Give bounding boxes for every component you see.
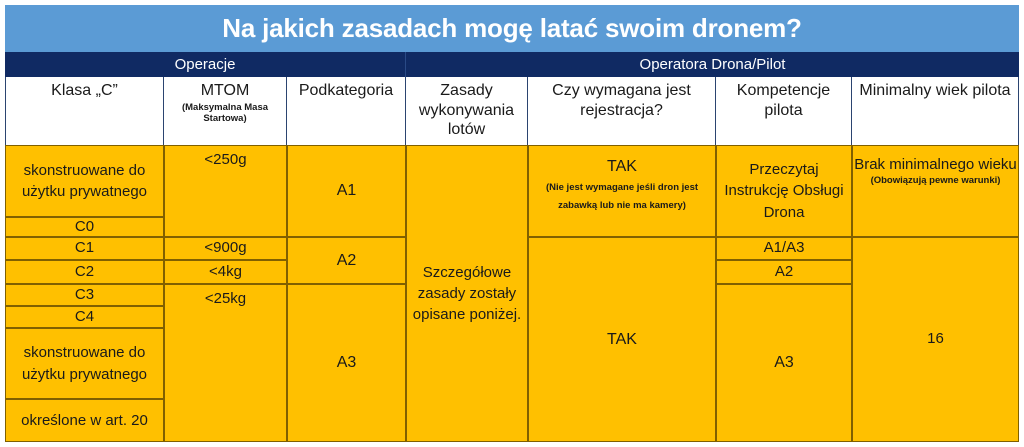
table-cell-wiek-brak-minimalnego: Brak minimalnego wieku (Obowiązują pewne… <box>852 145 1019 237</box>
column-header-wiek-label: Minimalny wiek pilota <box>859 81 1010 101</box>
table-cell-podkategoria-a3: A3 <box>287 284 406 442</box>
column-header-zasady-label: Zasady wykonywania lotów <box>406 81 527 140</box>
table-cell-zasady-opisane-ponizej: Szczegółowe zasady zostały opisane poniż… <box>406 145 528 442</box>
group-header-operatora-drona-pilot-label: Operatora Drona/Pilot <box>640 56 786 73</box>
cell-text: A2 <box>337 250 357 272</box>
column-header-rejestracja-label: Czy wymagana jest rejestracja? <box>528 81 715 120</box>
column-header-mtom-sublabel: (Maksymalna Masa Startowa) <box>164 102 286 125</box>
table-cell-mtom-900g: <900g <box>164 237 287 260</box>
cell-text: A1/A3 <box>764 238 805 258</box>
table-cell-mtom-4kg: <4kg <box>164 260 287 284</box>
column-header-mtom-label: MTOM <box>201 81 250 101</box>
cell-text: C2 <box>75 262 94 282</box>
cell-text: określone w art. 20 <box>21 410 148 431</box>
data-grid: skonstruowane do użytku prywatnego C0 C1… <box>5 145 1019 442</box>
cell-text: Szczegółowe zasady zostały opisane poniż… <box>407 262 527 326</box>
table-cell-klasa-c0: C0 <box>5 217 164 237</box>
cell-text: A1 <box>337 180 357 202</box>
cell-text: <4kg <box>209 262 242 282</box>
group-header-operacje-label: Operacje <box>175 56 236 73</box>
table-cell-wiek-16: 16 <box>852 237 1019 442</box>
table-cell-kompetencje-instrukcja: Przeczytaj Instrukcję Obsługi Drona <box>716 145 852 237</box>
table-cell-klasa-c1: C1 <box>5 237 164 260</box>
cell-text: A3 <box>337 352 357 374</box>
drone-rules-table-page: Na jakich zasadach mogę latać swoim dron… <box>0 0 1024 447</box>
cell-text: C0 <box>75 217 94 237</box>
cell-text: TAK <box>607 329 637 351</box>
cell-note: (Nie jest wymagane jeśli dron jest zabaw… <box>529 179 715 215</box>
cell-text: <25kg <box>205 289 246 309</box>
table-cell-kompetencje-a1-a3: A1/A3 <box>716 237 852 260</box>
table-cell-rejestracja-tak-warunkowo: TAK (Nie jest wymagane jeśli dron jest z… <box>528 145 716 237</box>
cell-text: A2 <box>775 262 793 282</box>
page-title-banner: Na jakich zasadach mogę latać swoim dron… <box>5 5 1019 52</box>
table-cell-kompetencje-a2: A2 <box>716 260 852 284</box>
column-header-czy-wymagana-rejestracja: Czy wymagana jest rejestracja? <box>528 77 716 145</box>
table-cell-klasa-c4: C4 <box>5 306 164 328</box>
column-header-podkategoria: Podkategoria <box>287 77 406 145</box>
column-header-kompetencje-label: Kompetencje pilota <box>716 81 851 120</box>
cell-text: C3 <box>75 285 94 305</box>
cell-text: Brak minimalnego wieku <box>854 154 1017 175</box>
table-cell-podkategoria-a1: A1 <box>287 145 406 237</box>
column-header-row: Klasa „C” MTOM (Maksymalna Masa Startowa… <box>5 77 1019 146</box>
cell-text: C4 <box>75 307 94 327</box>
cell-text: TAK <box>607 156 637 178</box>
table-cell-klasa-c3: C3 <box>5 284 164 306</box>
group-header-band: Operacje Operatora Drona/Pilot <box>5 52 1019 77</box>
group-header-operacje: Operacje <box>5 52 406 77</box>
cell-note: (Obowiązują pewne warunki) <box>871 175 1001 186</box>
cell-text: Przeczytaj Instrukcję Obsługi Drona <box>717 159 851 223</box>
column-header-zasady-wykonywania-lotow: Zasady wykonywania lotów <box>406 77 528 145</box>
page-title: Na jakich zasadach mogę latać swoim dron… <box>222 13 802 44</box>
table-cell-klasa-prywatne-1: skonstruowane do użytku prywatnego <box>5 145 164 217</box>
column-header-klasa-c: Klasa „C” <box>5 77 164 145</box>
group-header-operatora-drona-pilot: Operatora Drona/Pilot <box>406 52 1019 77</box>
table-cell-mtom-250g: <250g <box>164 145 287 237</box>
cell-text: 16 <box>927 329 944 349</box>
table-cell-klasa-art20: określone w art. 20 <box>5 399 164 442</box>
cell-text: <250g <box>204 150 246 170</box>
column-header-mtom: MTOM (Maksymalna Masa Startowa) <box>164 77 287 145</box>
cell-text: skonstruowane do użytku prywatnego <box>6 342 163 385</box>
cell-text: skonstruowane do użytku prywatnego <box>6 160 163 203</box>
table-cell-klasa-c2: C2 <box>5 260 164 284</box>
table-cell-podkategoria-a2: A2 <box>287 237 406 284</box>
column-header-minimalny-wiek-pilota: Minimalny wiek pilota <box>852 77 1019 145</box>
column-header-podkategoria-label: Podkategoria <box>299 81 393 101</box>
table-cell-mtom-25kg: <25kg <box>164 284 287 442</box>
cell-text: A3 <box>774 352 794 374</box>
column-header-klasa-c-label: Klasa „C” <box>51 81 118 101</box>
table-cell-rejestracja-tak: TAK <box>528 237 716 442</box>
table-cell-kompetencje-a3: A3 <box>716 284 852 442</box>
cell-text: <900g <box>204 238 246 258</box>
cell-text: C1 <box>75 238 94 258</box>
column-header-kompetencje-pilota: Kompetencje pilota <box>716 77 852 145</box>
table-cell-klasa-prywatne-2: skonstruowane do użytku prywatnego <box>5 328 164 399</box>
